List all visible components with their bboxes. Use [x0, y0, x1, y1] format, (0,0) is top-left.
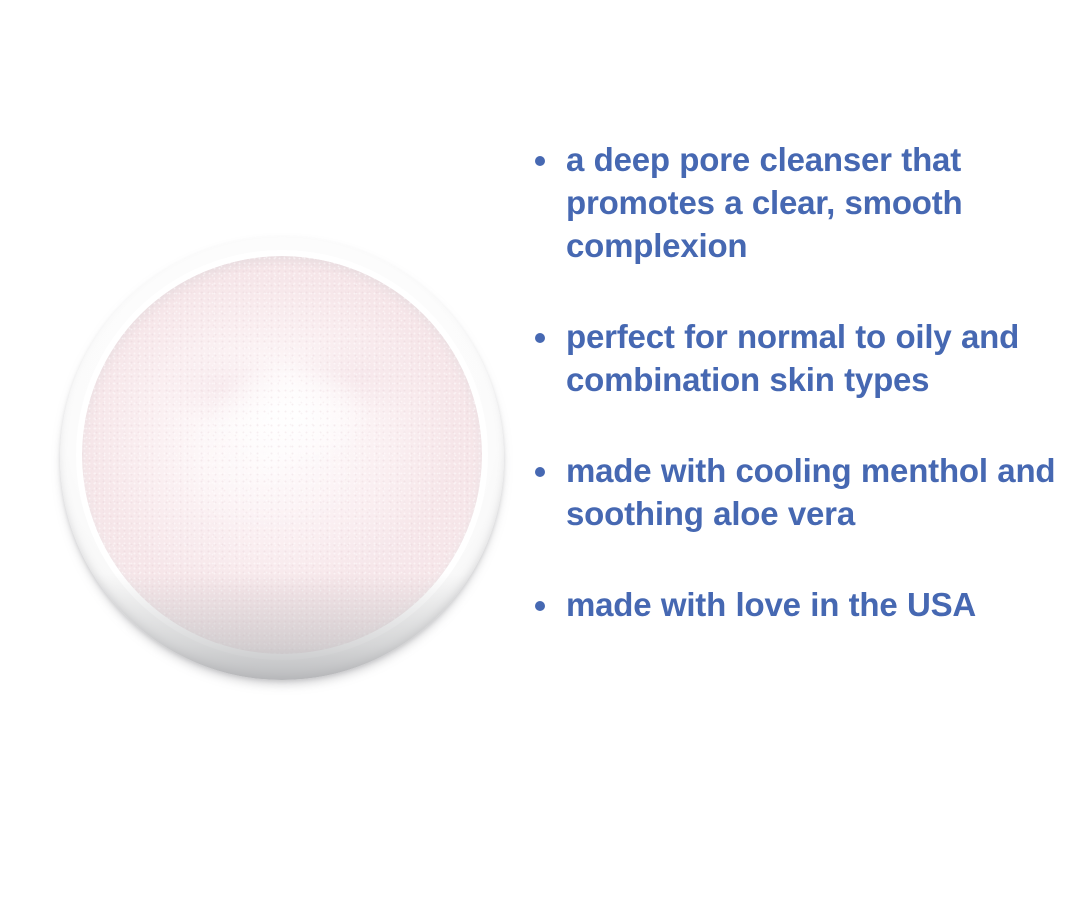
feature-text: perfect for normal to oily and combinati…	[566, 315, 1069, 401]
feature-text: made with love in the USA	[566, 583, 1069, 626]
powder-swirl-highlight	[82, 256, 482, 654]
bullet-point-icon	[535, 333, 545, 343]
feature-list-item: made with love in the USA	[528, 583, 1069, 626]
powder-surface	[82, 256, 482, 654]
feature-bullet-list: a deep pore cleanser that promotes a cle…	[528, 138, 1069, 626]
feature-text: made with cooling menthol and soothing a…	[566, 449, 1069, 535]
powder-grain-texture	[82, 256, 482, 654]
product-feature-canvas: a deep pore cleanser that promotes a cle…	[0, 0, 1069, 913]
bullet-point-icon	[535, 467, 545, 477]
feature-text: a deep pore cleanser that promotes a cle…	[566, 138, 1069, 267]
feature-list-item: made with cooling menthol and soothing a…	[528, 449, 1069, 535]
product-powder-bowl	[60, 236, 504, 680]
feature-list-item: a deep pore cleanser that promotes a cle…	[528, 138, 1069, 267]
bullet-point-icon	[535, 601, 545, 611]
bullet-point-icon	[535, 156, 545, 166]
bowl-shape	[60, 236, 504, 680]
feature-list-item: perfect for normal to oily and combinati…	[528, 315, 1069, 401]
